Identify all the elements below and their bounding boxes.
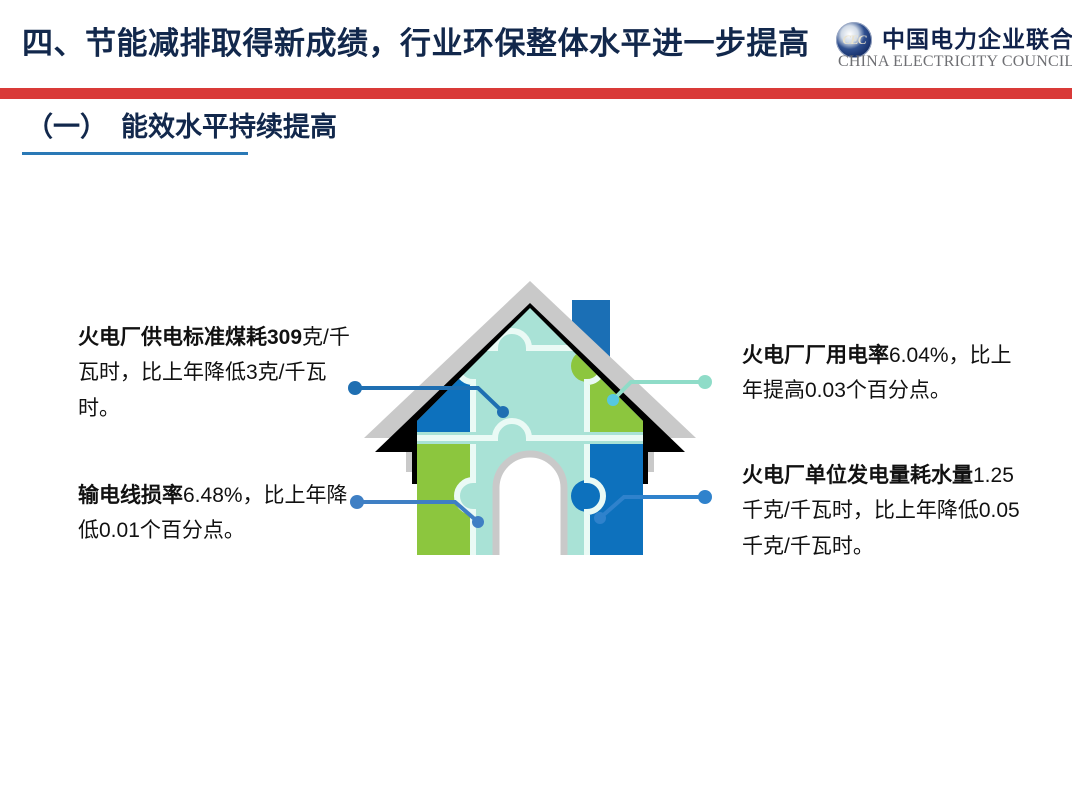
house-puzzle-graphic [355,272,705,572]
callout-aux-power: 火电厂厂用电率6.04%，比上年提高0.03个百分点。 [742,338,1032,409]
callout-aux-power-lead: 火电厂厂用电率 [742,344,889,367]
slide-canvas: 四、节能减排取得新成绩，行业环保整体水平进一步提高 中国电力企业联合会 CHIN… [0,0,1072,803]
callout-line-loss: 输电线损率6.48%，比上年降低0.01个百分点。 [78,478,350,549]
subheading-text: 能效水平持续提高 [121,112,337,142]
door-shape [496,454,564,562]
callout-water-use: 火电厂单位发电量耗水量1.25千克/千瓦时，比上年降低0.05千克/千瓦时。 [742,458,1032,564]
page-title: 四、节能减排取得新成绩，行业环保整体水平进一步提高 [22,18,812,63]
logo-name-cn: 中国电力企业联合会 [882,20,1072,54]
section-subheading: （一）能效水平持续提高 [26,105,337,144]
slide-header: 四、节能减排取得新成绩，行业环保整体水平进一步提高 中国电力企业联合会 CHIN… [0,0,1072,84]
callout-line-loss-lead: 输电线损率 [78,484,183,507]
header-red-divider [0,88,1072,99]
puzzle-pieces-group [410,302,650,562]
logo-name-en: CHINA ELECTRICITY COUNCIL [838,53,1072,71]
callout-coal-consumption: 火电厂供电标准煤耗309克/千瓦时，比上年降低3克/千瓦时。 [78,320,350,426]
subheading-underline [22,152,248,155]
callout-water-use-lead: 火电厂单位发电量耗水量 [742,464,973,487]
organization-logo: 中国电力企业联合会 CHINA ELECTRICITY COUNCIL [836,20,1064,78]
subheading-number: （一） [26,112,107,142]
callout-coal-lead: 火电厂供电标准煤耗309 [78,326,302,349]
